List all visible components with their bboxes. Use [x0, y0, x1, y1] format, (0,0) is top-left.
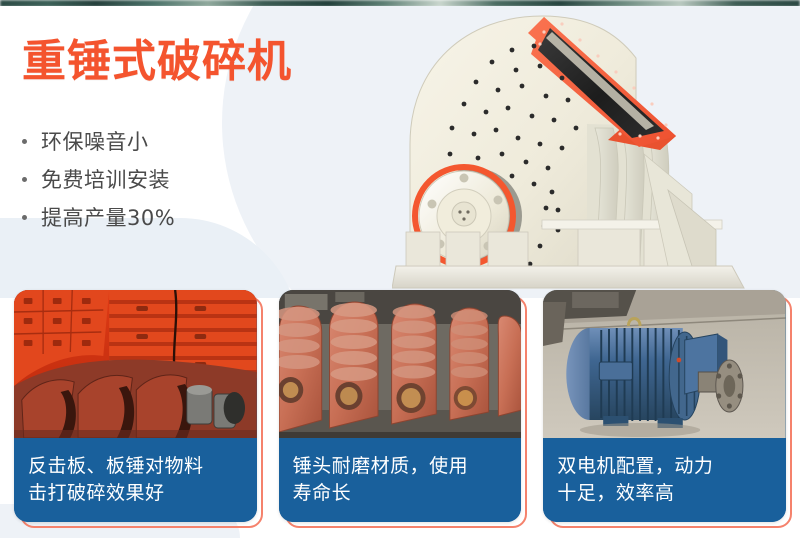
wear-resistant-hammer-heads-photo — [279, 290, 522, 438]
card-caption: 反击板、板锤对物料 击打破碎效果好 — [14, 438, 257, 522]
dual-electric-motor-photo — [543, 290, 786, 438]
card-caption: 双电机配置，动力 十足，效率高 — [543, 438, 786, 522]
promo-banner: 重锤式破碎机 环保噪音小 免费培训安装 提高产量30% — [0, 0, 800, 538]
feature-card[interactable]: 锤头耐磨材质，使用 寿命长 — [279, 290, 522, 522]
caption-line-2: 击打破碎效果好 — [28, 480, 243, 507]
page-title: 重锤式破碎机 — [22, 40, 292, 84]
feature-list: 环保噪音小 免费培训安装 提高产量30% — [22, 122, 175, 236]
card-body: 反击板、板锤对物料 击打破碎效果好 — [14, 290, 257, 522]
caption-line-1: 锤头耐磨材质，使用 — [293, 453, 508, 480]
impact-plate-and-hammer-photo — [14, 290, 257, 438]
feature-label: 提高产量30% — [41, 202, 175, 232]
caption-line-1: 反击板、板锤对物料 — [28, 453, 243, 480]
feature-label: 环保噪音小 — [41, 126, 149, 156]
card-body: 锤头耐磨材质，使用 寿命长 — [279, 290, 522, 522]
bullet-dot-icon — [22, 177, 27, 182]
feature-card[interactable]: 双电机配置，动力 十足，效率高 — [543, 290, 786, 522]
card-body: 双电机配置，动力 十足，效率高 — [543, 290, 786, 522]
feature-card[interactable]: 反击板、板锤对物料 击打破碎效果好 — [14, 290, 257, 522]
caption-line-2: 寿命长 — [293, 480, 508, 507]
feature-label: 免费培训安装 — [41, 164, 170, 194]
bullet-dot-icon — [22, 215, 27, 220]
caption-line-1: 双电机配置，动力 — [557, 453, 772, 480]
feature-list-item: 提高产量30% — [22, 198, 175, 236]
bullet-dot-icon — [22, 139, 27, 144]
feature-card-row: 反击板、板锤对物料 击打破碎效果好 — [0, 290, 800, 538]
hammer-crusher-illustration — [392, 4, 792, 296]
caption-line-2: 十足，效率高 — [557, 480, 772, 507]
feature-list-item: 免费培训安装 — [22, 160, 175, 198]
feature-list-item: 环保噪音小 — [22, 122, 175, 160]
card-caption: 锤头耐磨材质，使用 寿命长 — [279, 438, 522, 522]
